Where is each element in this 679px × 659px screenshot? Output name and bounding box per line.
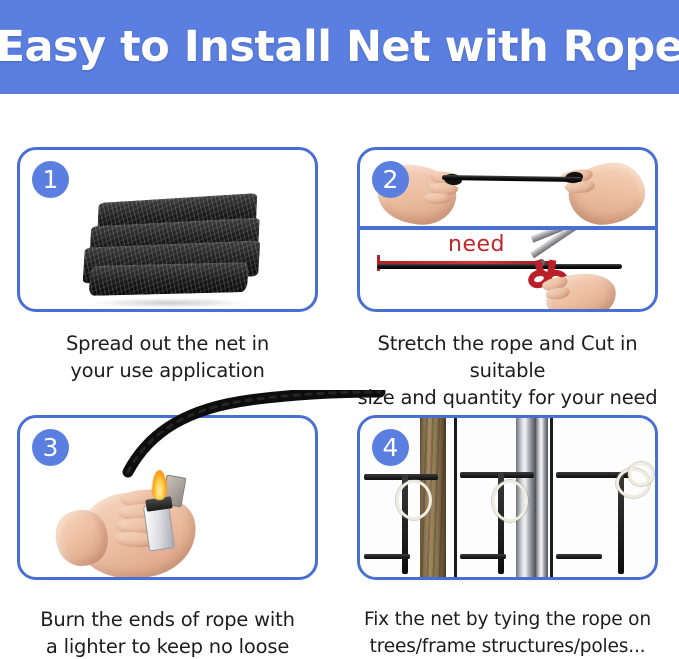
photo-divider	[454, 418, 457, 577]
step-number-badge-3: 3	[32, 429, 69, 466]
step-1-caption: Spread out the net in your use applicati…	[17, 330, 318, 384]
stretched-rope	[442, 175, 582, 182]
step-3-caption: Burn the ends of rope with a lighter to …	[17, 606, 318, 659]
rope-tie	[492, 480, 528, 522]
photo-divider	[550, 418, 553, 577]
net-layer	[88, 262, 249, 296]
page-title: Easy to Install Net with Rope	[0, 22, 679, 72]
left-hand-finger	[424, 193, 451, 204]
step-1-image-box: 1	[17, 147, 318, 312]
step-number-badge-1: 1	[32, 161, 69, 198]
rope-tie	[628, 462, 654, 486]
step-number-badge-2: 2	[372, 161, 409, 198]
net-horizontal-bar	[460, 472, 534, 478]
net-horizontal-bar	[460, 554, 506, 559]
need-annotation: need	[448, 232, 505, 257]
net-horizontal-bar	[364, 554, 410, 559]
step-4-caption: Fix the net by tying the rope on trees/f…	[340, 606, 675, 659]
step-4-image-box: 4	[357, 415, 658, 580]
infographic-page: Easy to Install Net with Rope 1 Spread o…	[0, 0, 679, 659]
cut-rope-subpanel: need	[360, 230, 655, 309]
net-horizontal-bar	[364, 474, 438, 480]
rope-tie	[396, 480, 432, 520]
rope-to-cut	[377, 264, 622, 269]
subpanel-divider	[360, 226, 655, 230]
step-3-image-box: 3	[17, 415, 318, 580]
lighter-flame	[152, 470, 167, 500]
header-banner: Easy to Install Net with Rope	[0, 0, 679, 94]
step-2-caption: Stretch the rope and Cut in suitable siz…	[337, 330, 678, 411]
step-number-badge-4: 4	[372, 429, 409, 466]
metal-pole	[536, 418, 548, 577]
step-2-image-box: need	[357, 147, 658, 312]
folded-net-image	[78, 189, 264, 305]
net-horizontal-bar	[556, 554, 602, 559]
